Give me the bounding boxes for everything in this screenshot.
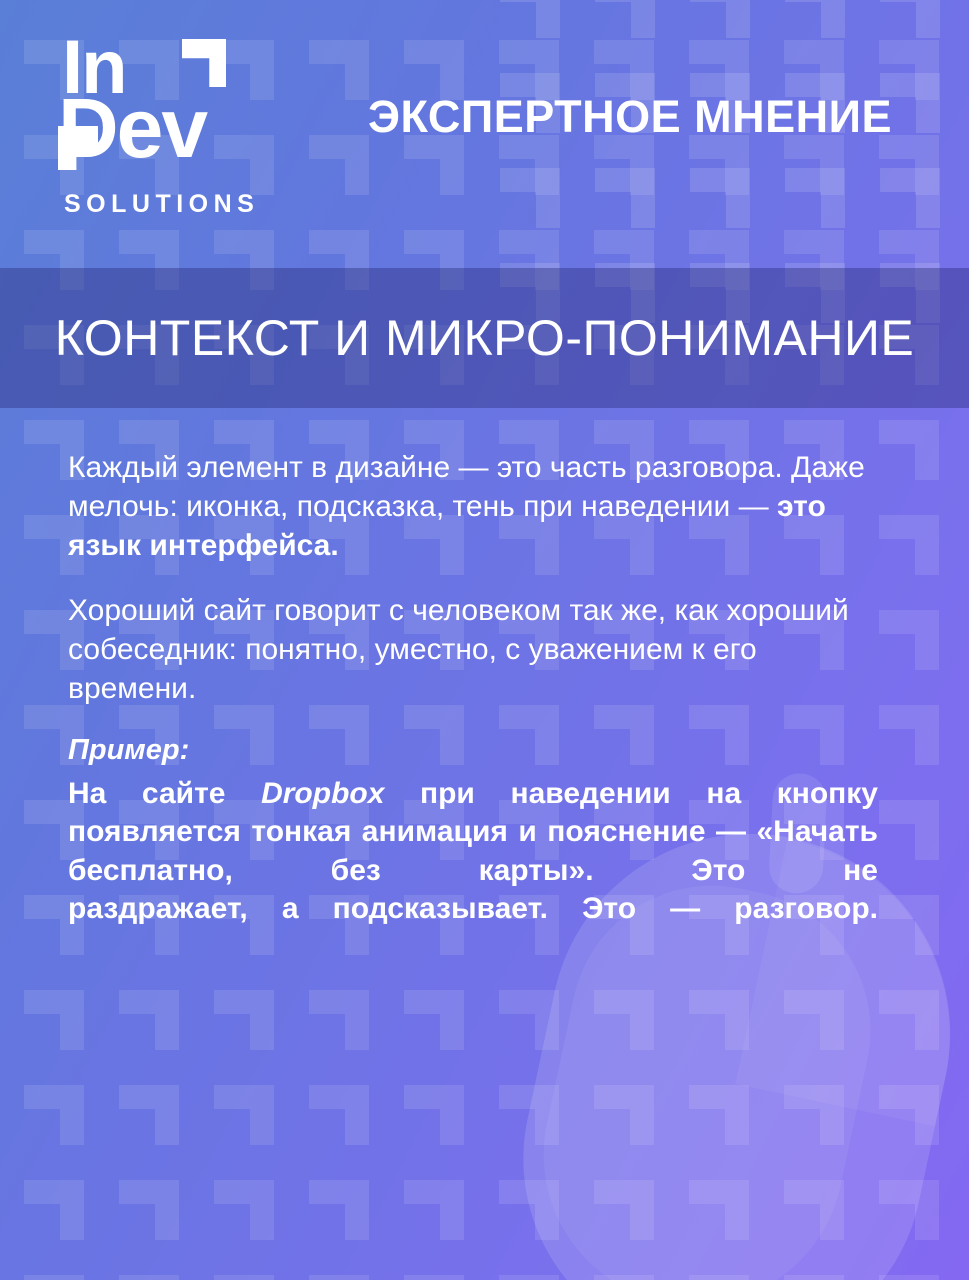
pattern-tile bbox=[689, 1180, 749, 1240]
pattern-tile bbox=[595, 168, 655, 228]
pattern-tile bbox=[24, 1085, 84, 1145]
slide-root: In Dev SOLUTIONS ЭКСПЕРТНОЕ МНЕНИЕ КОНТЕ… bbox=[0, 0, 969, 1280]
pattern-tile bbox=[214, 1180, 274, 1240]
pattern-tile bbox=[214, 1275, 274, 1280]
pattern-tile bbox=[784, 990, 844, 1050]
pattern-tile bbox=[879, 800, 939, 860]
pattern-tile bbox=[880, 0, 940, 38]
pattern-tile bbox=[24, 1180, 84, 1240]
pattern-tile bbox=[404, 1275, 464, 1280]
pattern-tile bbox=[309, 1180, 369, 1240]
pattern-tile bbox=[499, 1085, 559, 1145]
pattern-tile bbox=[24, 990, 84, 1050]
pattern-tile bbox=[879, 515, 939, 575]
pattern-tile bbox=[879, 895, 939, 955]
pattern-tile bbox=[785, 168, 845, 228]
pattern-tile bbox=[594, 990, 654, 1050]
example-last-line: раздражает, а подсказывает. Это — разгов… bbox=[68, 890, 878, 928]
pattern-tile bbox=[594, 1180, 654, 1240]
pattern-tile bbox=[500, 168, 560, 228]
header: In Dev SOLUTIONS ЭКСПЕРТНОЕ МНЕНИЕ bbox=[0, 0, 969, 268]
pattern-tile bbox=[879, 1180, 939, 1240]
pattern-tile bbox=[879, 990, 939, 1050]
example-brand-name: Dropbox bbox=[261, 777, 384, 810]
example-label: Пример: bbox=[68, 734, 878, 767]
pattern-tile bbox=[879, 705, 939, 765]
pattern-tile bbox=[404, 1180, 464, 1240]
pattern-tile bbox=[404, 990, 464, 1050]
pattern-tile bbox=[784, 1085, 844, 1145]
pattern-tile bbox=[309, 1085, 369, 1145]
pattern-tile bbox=[689, 1085, 749, 1145]
content-area: Каждый элемент в дизайне — это часть раз… bbox=[68, 448, 878, 929]
pattern-tile bbox=[119, 1275, 179, 1280]
section-banner: КОНТЕКСТ И МИКРО-ПОНИМАНИЕ bbox=[0, 268, 969, 408]
pattern-tile bbox=[689, 990, 749, 1050]
pattern-tile bbox=[119, 1085, 179, 1145]
pattern-tile bbox=[309, 1275, 369, 1280]
pattern-tile bbox=[404, 1085, 464, 1145]
pattern-tile bbox=[690, 0, 750, 38]
brand-logo: In Dev SOLUTIONS bbox=[36, 30, 266, 230]
pattern-tile bbox=[879, 420, 939, 480]
pattern-tile bbox=[594, 1275, 654, 1280]
pattern-tile bbox=[690, 168, 750, 228]
logo-corner-icon bbox=[182, 39, 226, 87]
banner-title: КОНТЕКСТ И МИКРО-ПОНИМАНИЕ bbox=[55, 309, 915, 367]
logo-mark: In Dev bbox=[36, 30, 236, 182]
pattern-tile bbox=[214, 1085, 274, 1145]
pattern-tile bbox=[879, 1275, 939, 1280]
pattern-tile bbox=[214, 990, 274, 1050]
pattern-tile bbox=[24, 1275, 84, 1280]
pattern-tile bbox=[784, 1275, 844, 1280]
pattern-tile bbox=[119, 1180, 179, 1240]
example-paragraph: На сайте Dropbox при наведении на кнопку… bbox=[68, 775, 878, 929]
pattern-tile bbox=[594, 1085, 654, 1145]
pattern-tile bbox=[119, 990, 179, 1050]
pattern-tile bbox=[595, 0, 655, 38]
pattern-tile bbox=[499, 1275, 559, 1280]
pattern-tile bbox=[784, 1180, 844, 1240]
pattern-tile bbox=[880, 168, 940, 228]
pattern-tile bbox=[499, 1180, 559, 1240]
pattern-tile bbox=[500, 0, 560, 38]
pattern-tile bbox=[879, 1085, 939, 1145]
pattern-tile bbox=[309, 990, 369, 1050]
paragraph-1: Каждый элемент в дизайне — это часть раз… bbox=[68, 448, 878, 565]
header-title: ЭКСПЕРТНОЕ МНЕНИЕ bbox=[330, 92, 930, 142]
paragraph-2: Хороший сайт говорит с человеком так же,… bbox=[68, 591, 878, 708]
pattern-tile bbox=[785, 0, 845, 38]
pattern-tile bbox=[879, 610, 939, 670]
pattern-tile bbox=[499, 990, 559, 1050]
logo-subtitle: SOLUTIONS bbox=[64, 190, 259, 219]
example-text-before: На сайте bbox=[68, 777, 261, 810]
paragraph-1-text: Каждый элемент в дизайне — это часть раз… bbox=[68, 451, 865, 523]
pattern-tile bbox=[689, 1275, 749, 1280]
